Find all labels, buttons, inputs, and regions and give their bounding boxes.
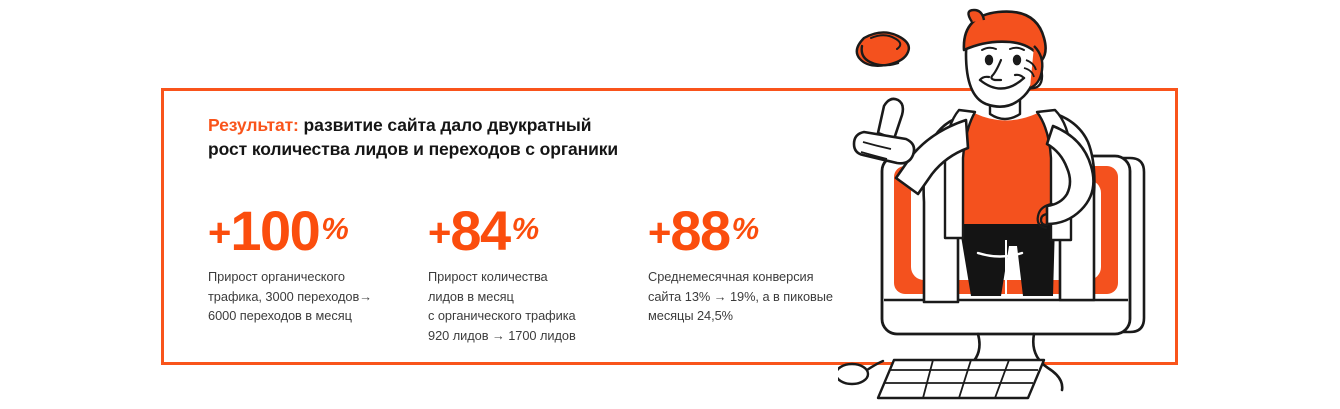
heading-rest-line1: развитие сайта дало двукратный bbox=[299, 115, 592, 135]
floating-coin-icon bbox=[857, 32, 909, 65]
stat-description: Прирост органического трафика, 3000 пере… bbox=[208, 267, 413, 326]
character-with-monitor-illustration bbox=[838, 8, 1218, 404]
stat-value: +100% bbox=[208, 201, 413, 259]
stat-description-line: 6000 переходов в месяц bbox=[208, 306, 413, 326]
stat-number: 88 bbox=[670, 199, 729, 262]
stat-description-line: трафика, 3000 переходов→ bbox=[208, 287, 413, 307]
heading-lead: Результат: bbox=[208, 115, 299, 135]
stat-block-organic-traffic: +100% Прирост органического трафика, 300… bbox=[208, 201, 413, 326]
stat-description-line: лидов в месяц bbox=[428, 287, 633, 307]
stats-row: +100% Прирост органического трафика, 300… bbox=[208, 201, 908, 361]
stat-percent-sign: % bbox=[512, 211, 540, 246]
stat-number: 84 bbox=[450, 199, 509, 262]
infographic-canvas: Результат: развитие сайта дало двукратны… bbox=[0, 0, 1340, 409]
stat-block-leads: +84% Прирост количества лидов в месяц с … bbox=[428, 201, 633, 345]
stat-plus-sign: + bbox=[648, 211, 670, 255]
keyboard-icon bbox=[878, 360, 1044, 398]
stat-description-line: с органического трафика bbox=[428, 306, 633, 326]
stat-percent-sign: % bbox=[732, 211, 760, 246]
stat-description-line: Прирост количества bbox=[428, 267, 633, 287]
stat-percent-sign: % bbox=[321, 211, 349, 246]
stat-description: Прирост количества лидов в месяц с орган… bbox=[428, 267, 633, 345]
mouse-icon bbox=[838, 361, 883, 384]
stat-value: +84% bbox=[428, 201, 633, 259]
page-title: Результат: развитие сайта дало двукратны… bbox=[208, 113, 728, 161]
thumbs-up-hand-icon bbox=[854, 99, 914, 163]
heading-line2: рост количества лидов и переходов с орга… bbox=[208, 139, 618, 159]
stat-number: 100 bbox=[230, 199, 319, 262]
stat-plus-sign: + bbox=[208, 211, 230, 255]
stat-description-line: 920 лидов → 1700 лидов bbox=[428, 326, 633, 346]
stat-plus-sign: + bbox=[428, 211, 450, 255]
stat-description-line: Прирост органического bbox=[208, 267, 413, 287]
